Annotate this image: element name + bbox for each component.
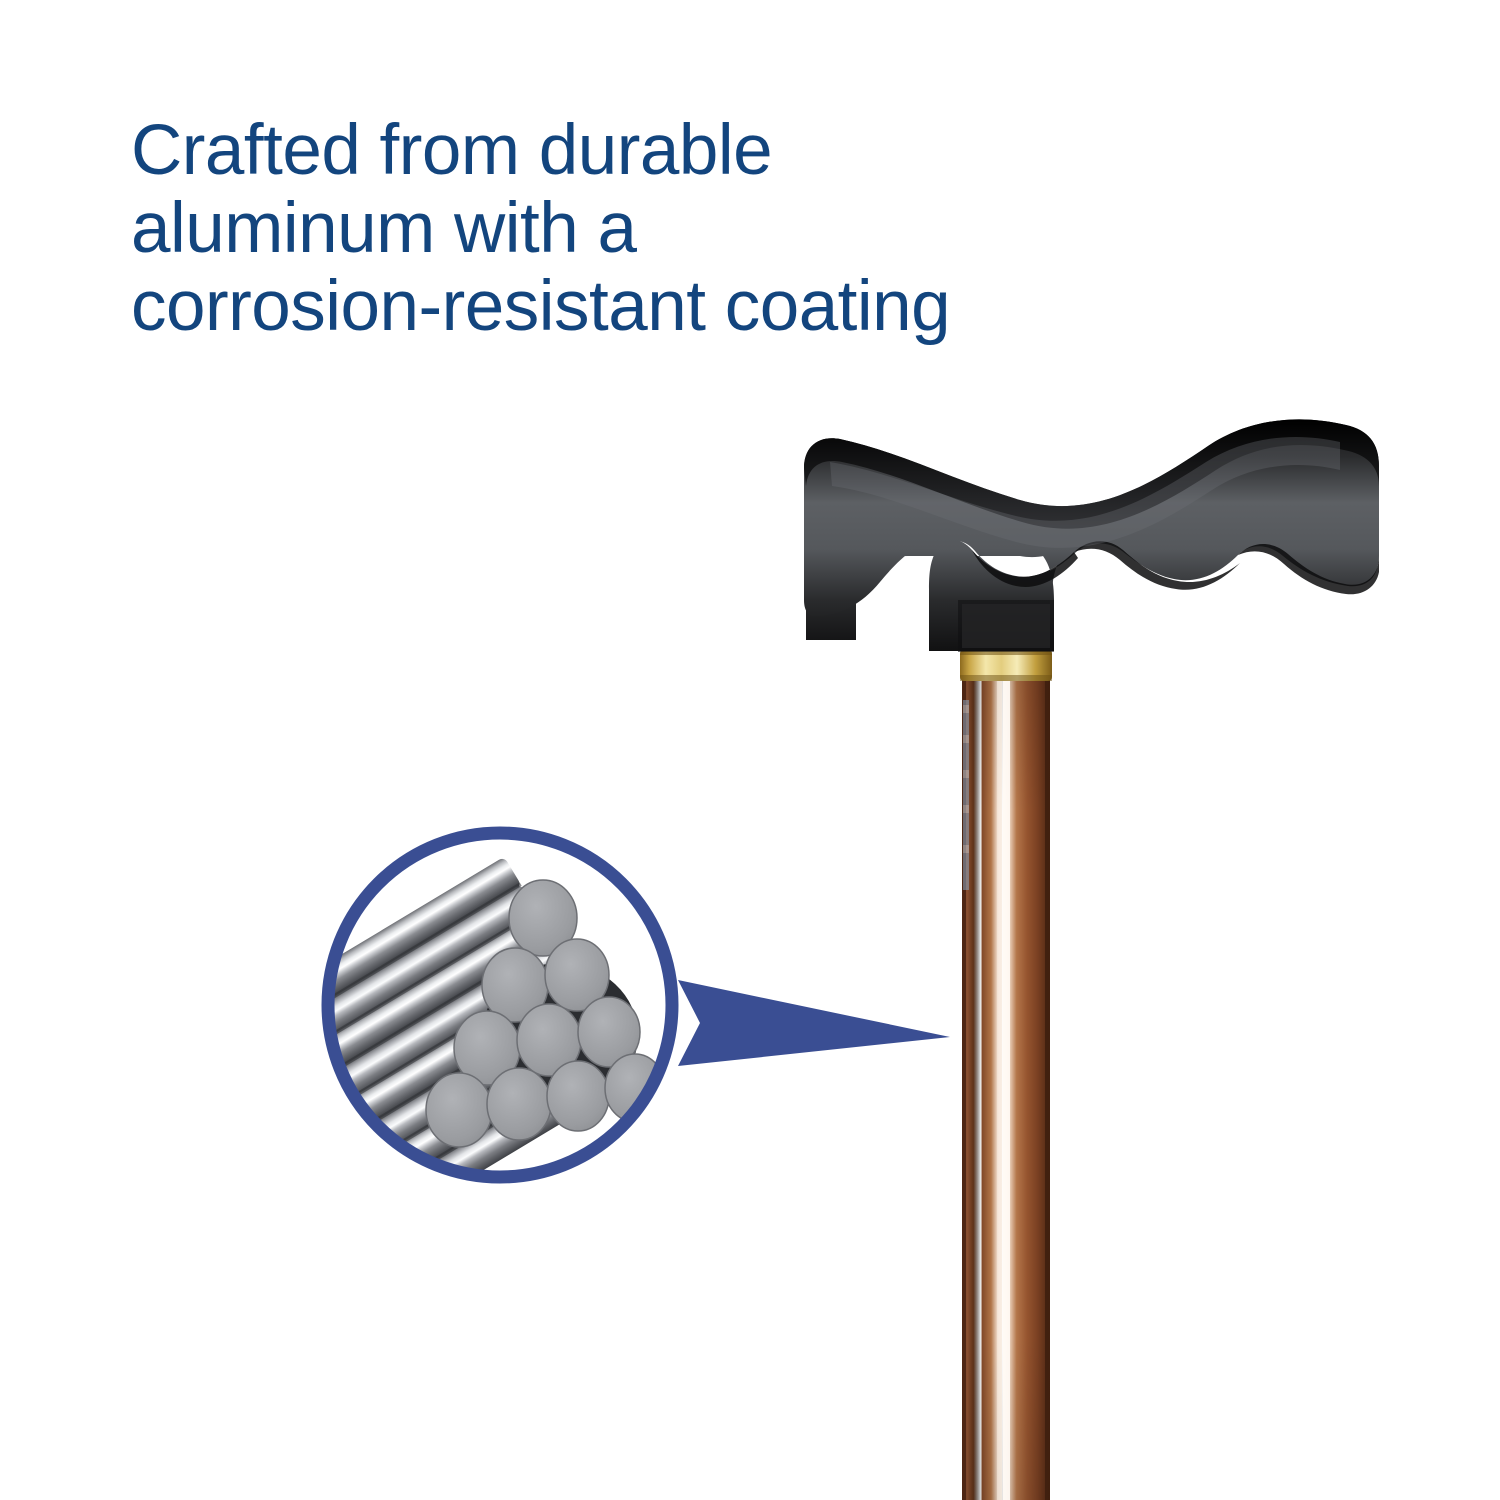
product-illustration (0, 0, 1500, 1500)
cane-handle (804, 419, 1379, 652)
walking-cane-graphic (804, 419, 1379, 1500)
callout-magnifier (221, 833, 672, 1248)
cane-shaft (962, 660, 1050, 1500)
callout-pointer-arrow (678, 980, 950, 1066)
shaft-label-strip (963, 700, 969, 890)
infographic-canvas: Crafted from durable aluminum with a cor… (0, 0, 1500, 1500)
brass-collar-ring (960, 650, 1052, 681)
